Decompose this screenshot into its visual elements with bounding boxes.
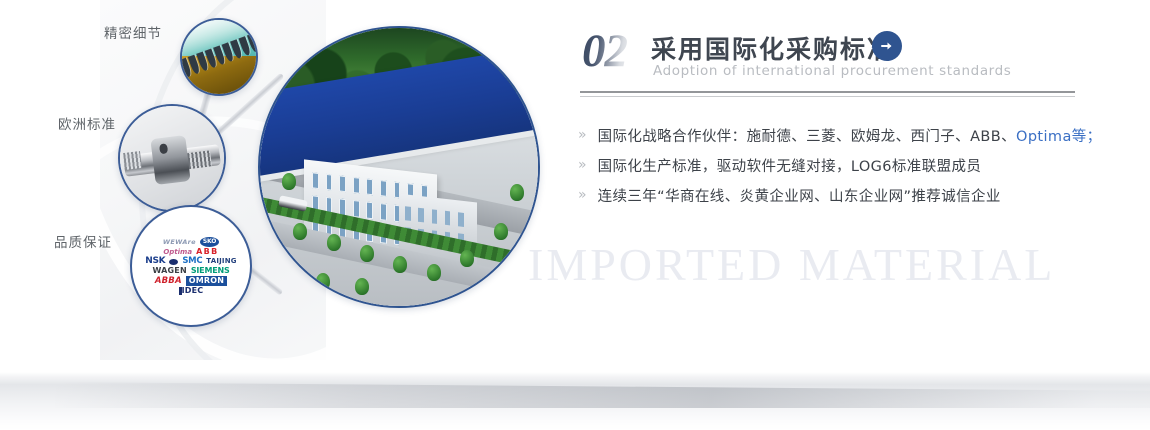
factory-photo [258,26,540,308]
chevron-double-right-icon: » [578,188,587,202]
arrow-right-icon[interactable] [872,31,902,61]
bullet-text: 国际化生产标准，驱动软件无缝对接，LOG6标准联盟成员 [598,155,982,176]
tree [460,250,474,267]
bullet-text: 国际化战略合作伙伴：施耐德、三菱、欧姆龙、西门子、ABB、Optima等； [598,125,1102,146]
logo-siemens: SIEMENS [191,267,230,275]
tree [282,173,296,190]
tree [293,223,307,240]
logo-abba: ABBA [155,277,182,286]
list-item: » 连续三年“华商在线、炎黄企业网、山东企业网”推荐诚信企业 [578,180,1098,210]
showcase-label-precision: 精密细节 [104,22,162,42]
screw-nut [151,135,192,185]
tree [355,278,369,295]
screw-end [123,151,142,170]
watermark-text: IMPORTED MATERIAL [528,238,1055,291]
tree [393,256,407,273]
section-subtitle: Adoption of international procurement st… [653,63,1011,79]
logo-taijing: TAIJING [206,258,236,265]
showcase-label-quality: 品质保证 [54,231,112,251]
tree [327,234,341,251]
chevron-double-right-icon: » [578,128,587,142]
logo-idec: IDEC [179,287,204,295]
showcase-label-european-standard: 欧洲标准 [58,113,116,133]
logo-optima: Optima [163,249,192,256]
bullet-list: » 国际化战略合作伙伴：施耐德、三菱、欧姆龙、西门子、ABB、Optima等； … [578,120,1098,210]
bullet-text: 连续三年“华商在线、炎黄企业网、山东企业网”推荐诚信企业 [598,185,1001,206]
page-root: 精密细节 欧洲标准 品质保证 WEWAre SKO Optima ABB NSK [0,0,1150,430]
logo-idec-text: IDEC [182,286,204,295]
brand-logos-circle: WEWAre SKO Optima ABB NSK SMC TAIJING WA… [130,205,252,327]
logo-abb: ABB [196,248,219,256]
bottom-reflection-shelf [0,372,1150,430]
tree [360,245,374,262]
section-title: 采用国际化采购标准 [651,30,894,66]
logo-nsk: NSK [145,257,165,266]
header-divider [580,91,1075,93]
tree [510,184,524,201]
bullet-text-highlight: Optima等； [1016,129,1102,145]
logo-omron: OMRON [186,276,227,286]
brand-logo-grid: WEWAre SKO Optima ABB NSK SMC TAIJING WA… [132,207,250,325]
list-item: » 国际化战略合作伙伴：施耐德、三菱、欧姆龙、西门子、ABB、Optima等； [578,120,1098,150]
tree [427,264,441,281]
smc-mark-icon [169,259,178,265]
logo-smc: SMC [182,257,202,266]
bullet-text-prefix: 国际化战略合作伙伴：施耐德、三菱、欧姆龙、西门子、ABB、 [598,129,1016,145]
logo-weware: WEWAre [163,239,196,246]
logo-wagen: WAGEN [152,267,186,275]
tree [316,273,330,290]
section-number: 02 [582,28,627,75]
tree [494,223,508,240]
logo-sko: SKO [200,237,219,247]
header-divider-thin [580,96,1075,97]
ball-screw-photo [118,104,226,212]
list-item: » 国际化生产标准，驱动软件无缝对接，LOG6标准联盟成员 [578,150,1098,180]
factory-scene [260,28,538,306]
gear-rack-photo [180,18,258,96]
chevron-double-right-icon: » [578,158,587,172]
